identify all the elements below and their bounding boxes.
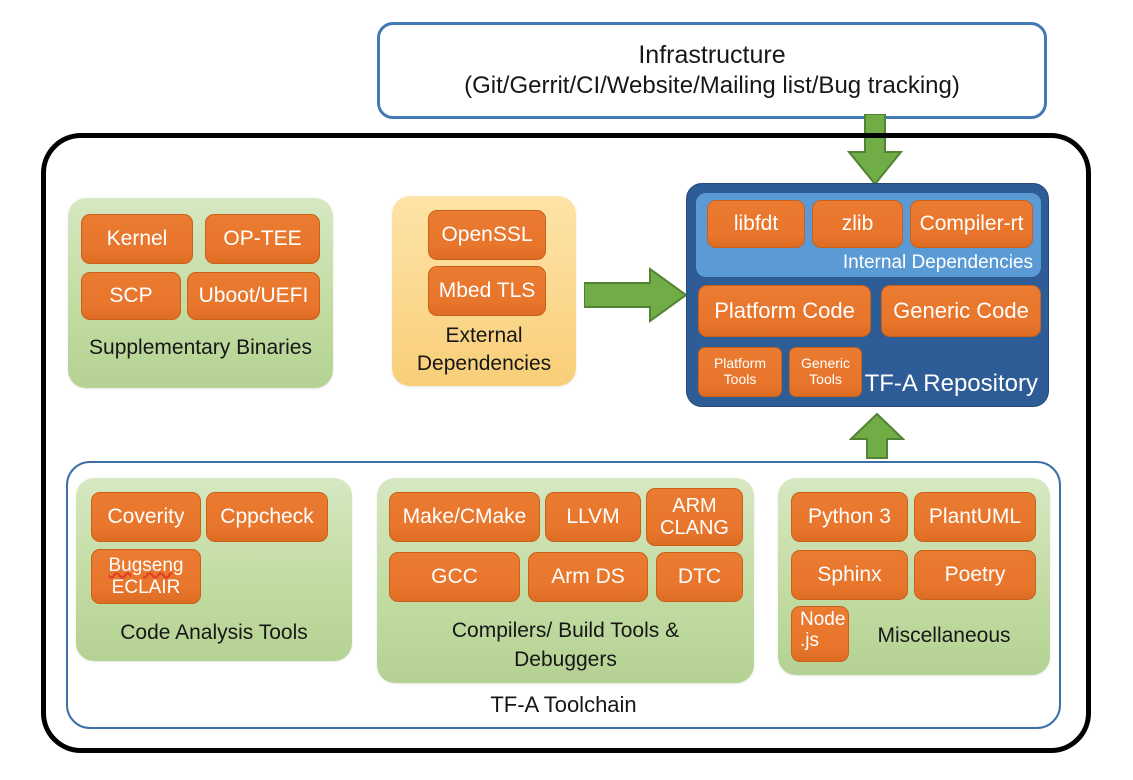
- chip-gcc[interactable]: GCC: [389, 552, 520, 602]
- group-label-external-dependencies-line2: Dependencies: [392, 351, 576, 376]
- chip-arm-ds[interactable]: Arm DS: [528, 552, 648, 602]
- group-miscellaneous: Python 3 PlantUML Sphinx Poetry Node .js…: [778, 478, 1050, 675]
- tfa-toolchain-label: TF-A Toolchain: [66, 692, 1061, 718]
- group-code-analysis-tools: Coverity Cppcheck Bugseng ECLAIR Code An…: [76, 478, 352, 661]
- tfa-repository-block: libfdt zlib Compiler-rt Internal Depende…: [686, 183, 1049, 407]
- chip-platform-code[interactable]: Platform Code: [698, 285, 871, 337]
- group-label-external-dependencies-line1: External: [392, 323, 576, 348]
- group-label-miscellaneous: Miscellaneous: [838, 623, 1050, 648]
- chip-arm-clang[interactable]: ARM CLANG: [646, 488, 743, 546]
- chip-generic-code[interactable]: Generic Code: [881, 285, 1041, 337]
- internal-dependencies-label: Internal Dependencies: [843, 252, 1033, 274]
- chip-node-js-line2: .js: [800, 630, 819, 651]
- arrow-toolchain-to-repository: [849, 413, 905, 459]
- group-label-supplementary-binaries: Supplementary Binaries: [68, 335, 333, 360]
- group-external-dependencies: OpenSSL Mbed TLS External Dependencies: [392, 196, 576, 386]
- group-compilers-build-tools: Make/CMake LLVM ARM CLANG GCC Arm DS DTC…: [377, 478, 754, 683]
- chip-bugseng-eclair-line2: ECLAIR: [112, 577, 181, 598]
- chip-plantuml[interactable]: PlantUML: [914, 492, 1036, 542]
- chip-arm-clang-line1: ARM: [672, 495, 716, 517]
- chip-zlib[interactable]: zlib: [812, 200, 903, 248]
- group-label-compilers-line2: Debuggers: [377, 647, 754, 672]
- internal-dependencies-panel: libfdt zlib Compiler-rt Internal Depende…: [696, 193, 1041, 277]
- chip-arm-clang-line2: CLANG: [660, 517, 729, 539]
- chip-cppcheck[interactable]: Cppcheck: [206, 492, 328, 542]
- chip-platform-tools[interactable]: Platform Tools: [698, 347, 782, 397]
- chip-op-tee[interactable]: OP-TEE: [205, 214, 320, 264]
- infrastructure-title: Infrastructure: [638, 40, 785, 71]
- chip-kernel[interactable]: Kernel: [81, 214, 193, 264]
- chip-libfdt[interactable]: libfdt: [707, 200, 805, 248]
- chip-platform-tools-line1: Platform: [714, 356, 766, 372]
- group-supplementary-binaries: Kernel OP-TEE SCP Uboot/UEFI Supplementa…: [68, 198, 333, 388]
- group-label-code-analysis-tools: Code Analysis Tools: [76, 620, 352, 645]
- chip-uboot-uefi[interactable]: Uboot/UEFI: [187, 272, 320, 320]
- chip-coverity[interactable]: Coverity: [91, 492, 201, 542]
- chip-compiler-rt[interactable]: Compiler-rt: [910, 200, 1033, 248]
- group-label-compilers-line1: Compilers/ Build Tools &: [377, 618, 754, 643]
- chip-generic-tools-line1: Generic: [801, 356, 850, 372]
- chip-scp[interactable]: SCP: [81, 272, 181, 320]
- chip-dtc[interactable]: DTC: [656, 552, 743, 602]
- chip-generic-tools-line2: Tools: [809, 372, 842, 388]
- diagram-canvas: Infrastructure (Git/Gerrit/CI/Website/Ma…: [0, 0, 1133, 780]
- chip-mbed-tls[interactable]: Mbed TLS: [428, 266, 546, 316]
- chip-openssl[interactable]: OpenSSL: [428, 210, 546, 260]
- chip-make-cmake[interactable]: Make/CMake: [389, 492, 540, 542]
- infrastructure-card: Infrastructure (Git/Gerrit/CI/Website/Ma…: [377, 22, 1047, 119]
- chip-bugseng-eclair-line1: Bugseng: [108, 555, 183, 576]
- chip-llvm[interactable]: LLVM: [545, 492, 641, 542]
- chip-platform-tools-line2: Tools: [724, 372, 757, 388]
- chip-bugseng-eclair[interactable]: Bugseng ECLAIR: [91, 549, 201, 604]
- chip-poetry[interactable]: Poetry: [914, 550, 1036, 600]
- arrow-external-deps-to-repository: [584, 267, 688, 323]
- chip-sphinx[interactable]: Sphinx: [791, 550, 908, 600]
- tfa-repository-label: TF-A Repository: [865, 370, 1038, 398]
- infrastructure-subtitle: (Git/Gerrit/CI/Website/Mailing list/Bug …: [464, 71, 960, 101]
- chip-python-3[interactable]: Python 3: [791, 492, 908, 542]
- chip-generic-tools[interactable]: Generic Tools: [789, 347, 862, 397]
